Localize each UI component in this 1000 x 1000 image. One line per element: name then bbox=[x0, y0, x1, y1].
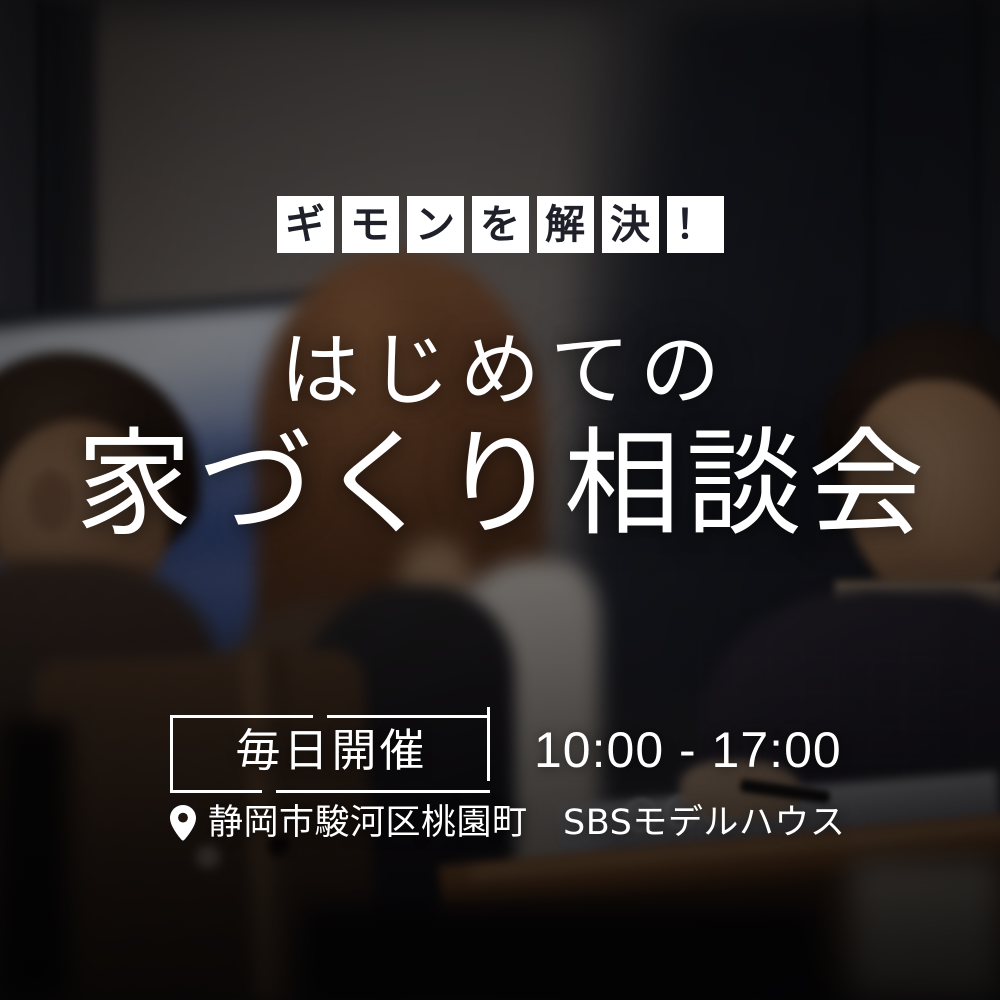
kicker-char-box: 決 bbox=[602, 196, 659, 253]
kicker-char-box: 解 bbox=[537, 196, 594, 253]
frame-line-right bbox=[487, 707, 490, 781]
frame-line-top-left bbox=[173, 715, 313, 718]
headline-line-2: 家づくり相談会 bbox=[0, 422, 1000, 547]
frame-line-top-right bbox=[327, 715, 490, 718]
kicker-badges: ギ モ ン を 解 決 ！ bbox=[0, 196, 1000, 253]
frame-line-left bbox=[170, 715, 173, 793]
venue-row: 静岡市駿河区桃園町 SBSモデルハウス bbox=[170, 804, 930, 843]
venue-name: 静岡市駿河区桃園町 SBSモデルハウス bbox=[208, 804, 845, 843]
frequency-frame: 毎日開催 bbox=[170, 707, 490, 793]
kicker-char-box: ！ bbox=[667, 196, 724, 253]
event-info: 毎日開催 10:00 - 17:00 静岡市駿河区桃園町 SBSモデルハウス bbox=[170, 702, 930, 843]
event-time: 10:00 - 17:00 bbox=[534, 725, 842, 775]
frame-line-bottom-left bbox=[170, 790, 262, 793]
kicker-char-box: ン bbox=[407, 196, 464, 253]
kicker-char-box: ギ bbox=[277, 196, 334, 253]
map-pin-icon bbox=[170, 805, 196, 841]
schedule-row: 毎日開催 10:00 - 17:00 bbox=[170, 702, 930, 798]
frequency-label: 毎日開催 bbox=[232, 728, 427, 773]
event-poster: ギ モ ン を 解 決 ！ はじめての 家づくり相談会 bbox=[0, 0, 1000, 1000]
frame-line-bottom-right bbox=[276, 790, 490, 793]
kicker-char-box: モ bbox=[342, 196, 399, 253]
headline: はじめての 家づくり相談会 bbox=[0, 325, 1000, 547]
kicker-char-box: を bbox=[472, 196, 529, 253]
text-overlay: ギ モ ン を 解 決 ！ はじめての 家づくり相談会 bbox=[0, 0, 1000, 1000]
headline-line-1: はじめての bbox=[0, 325, 1000, 418]
